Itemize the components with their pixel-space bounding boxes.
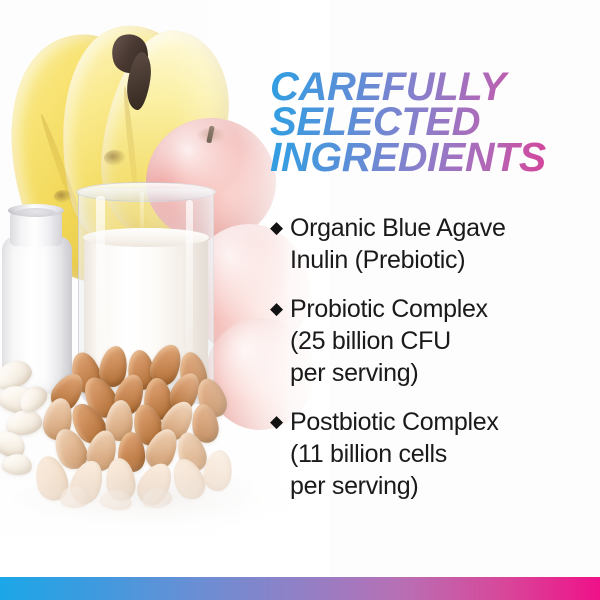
heading-line-3: INGREDIENTS [270, 140, 600, 175]
list-item: ◆ Postbiotic Complex (11 billion cells p… [268, 406, 600, 502]
list-item-line: per serving) [290, 470, 600, 502]
ingredients-list: ◆ Organic Blue Agave Inulin (Prebiotic) … [268, 212, 600, 519]
list-item-text: Probiotic Complex (25 billion CFU per se… [290, 293, 600, 389]
banana-spot [104, 150, 126, 166]
list-item-text: Organic Blue Agave Inulin (Prebiotic) [290, 212, 600, 276]
glass-facet [140, 192, 144, 242]
list-item: ◆ Organic Blue Agave Inulin (Prebiotic) [268, 212, 600, 276]
list-item-line: Inulin (Prebiotic) [290, 244, 600, 276]
diamond-bullet-icon: ◆ [268, 406, 290, 438]
list-item-line: (25 billion CFU [290, 325, 600, 357]
banana-spot [54, 190, 72, 203]
list-item-line: per serving) [290, 357, 600, 389]
yogurt-bottle-opening [17, 208, 55, 217]
list-item-line: Organic Blue Agave [290, 212, 600, 244]
page-title: CAREFULLY SELECTED INGREDIENTS [270, 70, 600, 175]
bottom-gradient-bar [0, 577, 600, 600]
diamond-bullet-icon: ◆ [268, 293, 290, 325]
list-item-line: (11 billion cells [290, 438, 600, 470]
infographic-canvas: CAREFULLY SELECTED INGREDIENTS ◆ Organic… [0, 0, 600, 600]
list-item-text: Postbiotic Complex (11 billion cells per… [290, 406, 600, 502]
table-shadow [10, 470, 300, 530]
list-item: ◆ Probiotic Complex (25 billion CFU per … [268, 293, 600, 389]
list-item-line: Probiotic Complex [290, 293, 600, 325]
diamond-bullet-icon: ◆ [268, 212, 290, 244]
list-item-line: Postbiotic Complex [290, 406, 600, 438]
text-panel: CAREFULLY SELECTED INGREDIENTS ◆ Organic… [268, 0, 600, 578]
